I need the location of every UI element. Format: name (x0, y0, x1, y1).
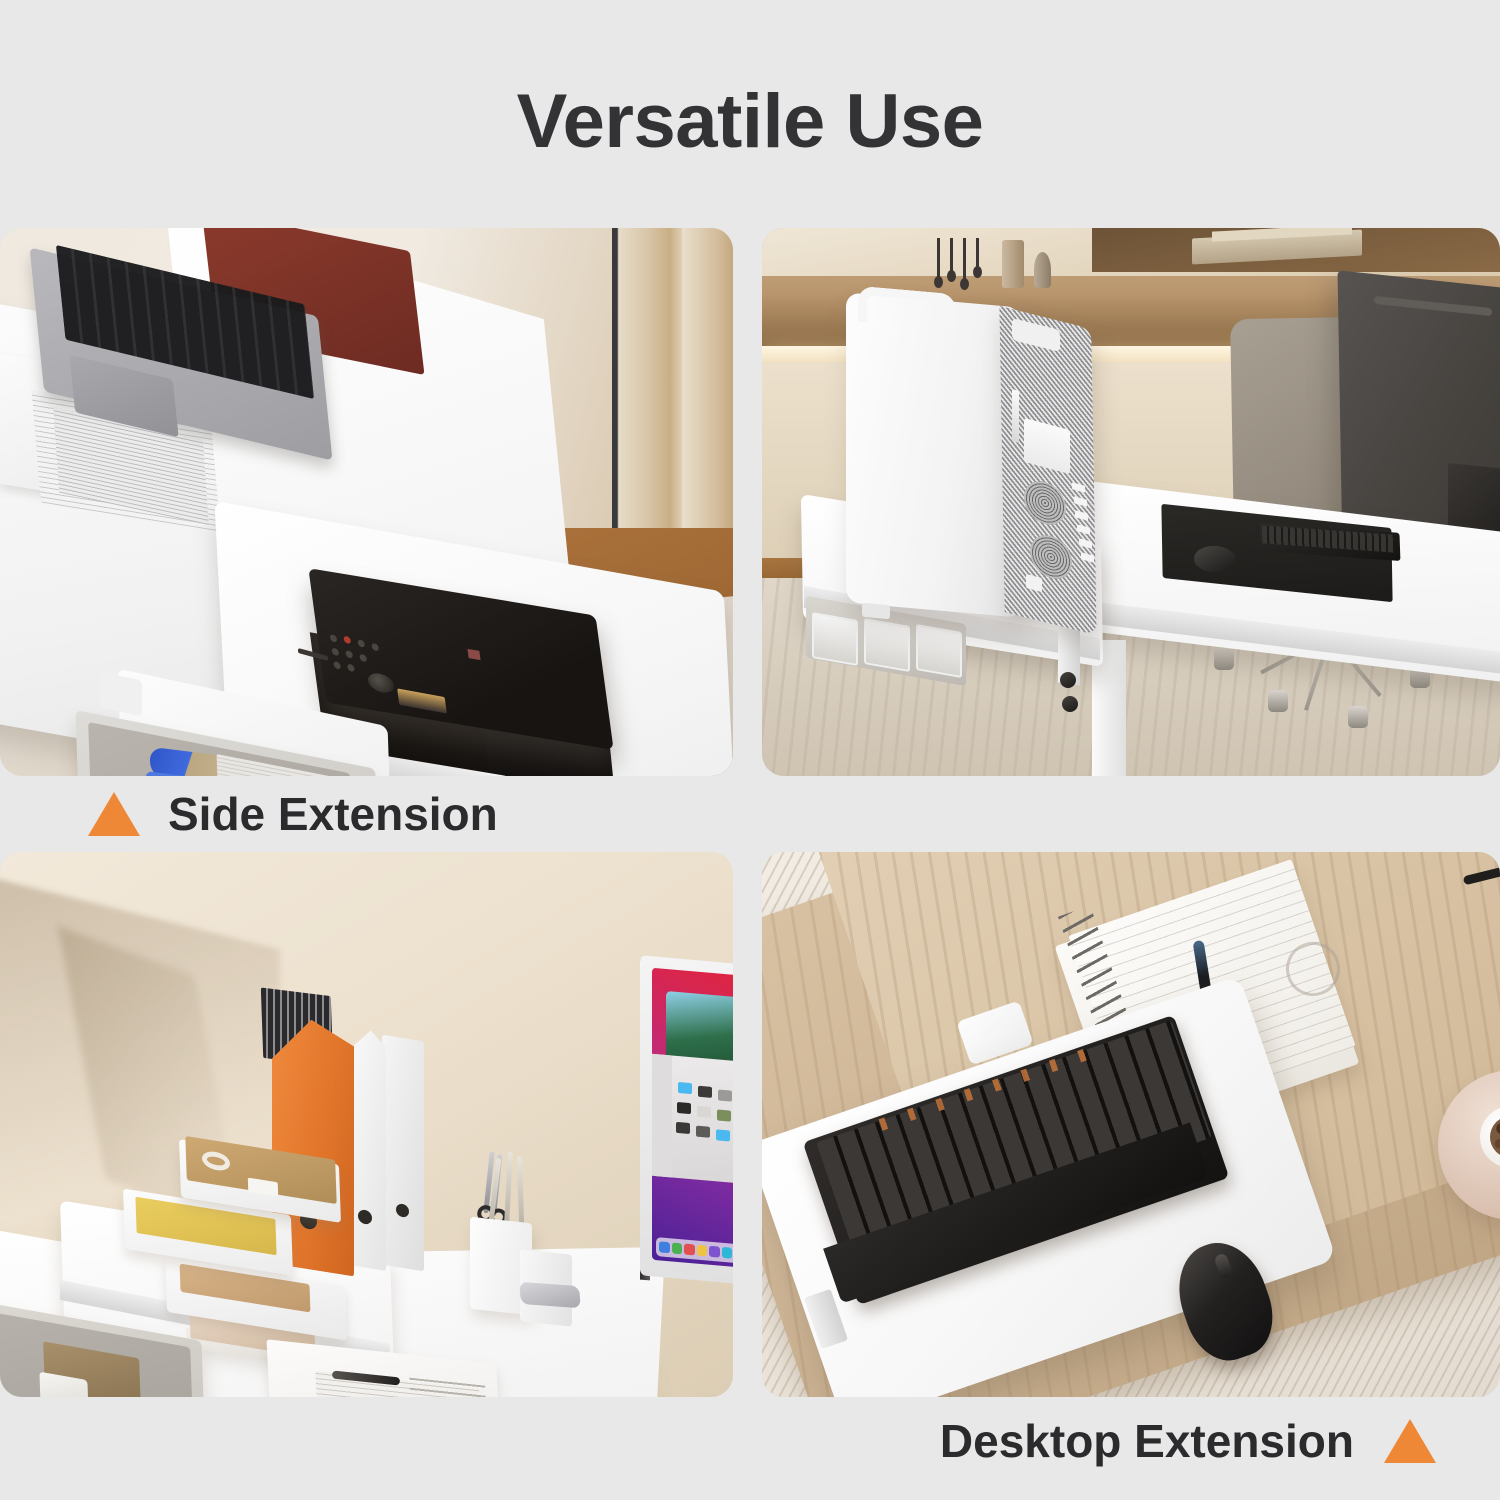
chair-caster (1268, 690, 1288, 712)
pc-tower-foot (862, 603, 890, 619)
pc-tower-led-strip (1012, 389, 1019, 443)
caption-side-extension: Side Extension (88, 783, 498, 845)
stapler (519, 1282, 580, 1308)
photo-panel-side-extension-organizers (0, 852, 733, 1397)
caption-label: Side Extension (168, 787, 498, 841)
printer-logo (467, 649, 480, 660)
page-title: Versatile Use (0, 78, 1500, 165)
storage-cell (916, 624, 962, 678)
scene-printer-side-extension (0, 228, 733, 776)
infographic-page: Versatile Use (0, 0, 1500, 1500)
screen-dock (656, 1237, 733, 1265)
photo-panel-side-extension-printer (0, 228, 733, 776)
triangle-marker-icon (1384, 1419, 1436, 1463)
photo-panel-side-extension-pc-tower (762, 228, 1500, 776)
photo-panel-desktop-extension-keyboard-tray (762, 852, 1500, 1397)
scene-keyboard-tray (762, 852, 1500, 1397)
jar-container (1002, 240, 1024, 288)
caption-label: Desktop Extension (940, 1414, 1354, 1468)
triangle-marker-icon (88, 792, 140, 836)
hanging-utensils (937, 238, 997, 288)
chair-caster (1348, 706, 1368, 728)
storage-cell (812, 612, 858, 666)
clamp-knob (1062, 696, 1078, 712)
scene-desk-organizers (0, 852, 733, 1397)
screen-file-browser-window (652, 1054, 733, 1186)
caption-desktop-extension: Desktop Extension (940, 1410, 1436, 1472)
magazine-file-white-back (382, 1035, 424, 1272)
small-jar (1034, 252, 1051, 288)
scene-pc-tower-side-extension (762, 228, 1500, 776)
pc-tower-body (846, 292, 1021, 617)
pc-tower-mesh-panel (999, 306, 1096, 635)
storage-cell (864, 618, 910, 672)
chair-caster (1214, 648, 1234, 670)
file-browser-sidebar (652, 1054, 672, 1178)
clamp-knob (1060, 672, 1076, 688)
monitor-screen (652, 968, 733, 1269)
